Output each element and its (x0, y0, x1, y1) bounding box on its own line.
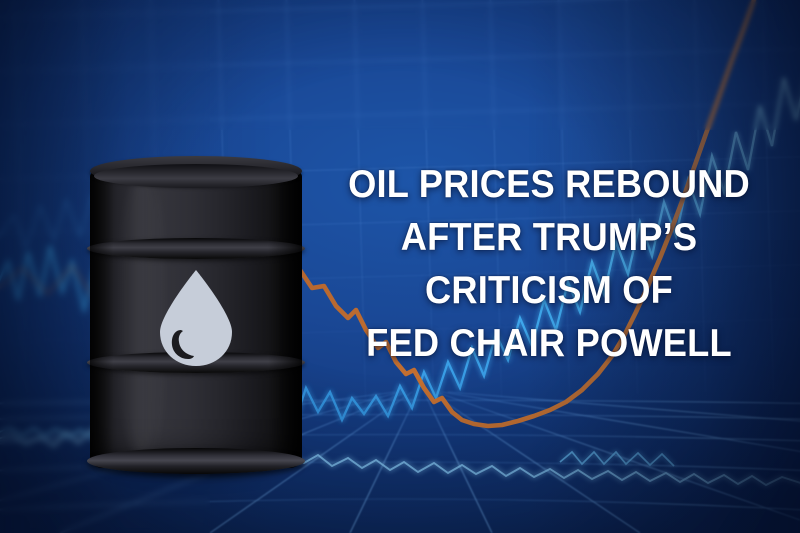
headline-line-4: FED CHAIR POWELL (334, 317, 764, 370)
headline-line-3: CRITICISM OF (334, 264, 764, 317)
oil-barrel (90, 156, 302, 480)
barrel-top-lid (94, 164, 298, 188)
barrel-base-rim (87, 448, 305, 474)
oil-drop-icon (154, 268, 238, 368)
headline: OIL PRICES REBOUND AFTER TRUMP’S CRITICI… (334, 158, 764, 370)
hero-graphic: OIL PRICES REBOUND AFTER TRUMP’S CRITICI… (0, 0, 800, 533)
headline-line-1: OIL PRICES REBOUND (334, 158, 764, 211)
headline-line-2: AFTER TRUMP’S (334, 211, 764, 264)
